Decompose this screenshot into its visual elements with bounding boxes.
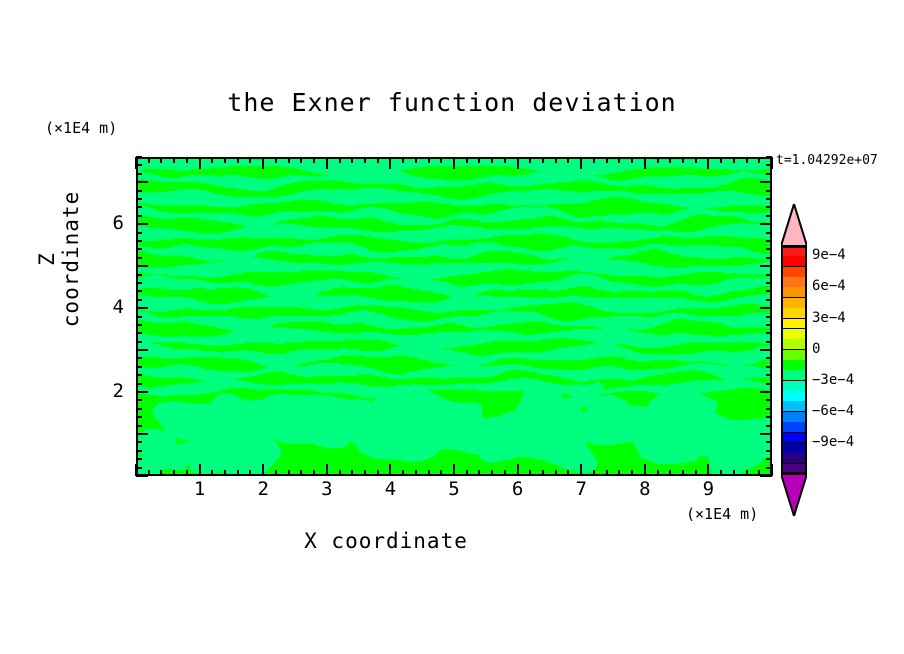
x-tick-minor: [364, 157, 366, 163]
y-tick-minor: [136, 190, 142, 192]
y-tick-minor: [136, 425, 142, 427]
contour-field: [136, 157, 772, 476]
x-tick-minor: [695, 157, 697, 163]
y-tick-minor: [766, 215, 772, 217]
y-tick-minor: [766, 156, 772, 158]
x-tick-major: [326, 464, 328, 476]
x-axis-unit-label: (×1E4 m): [686, 505, 758, 523]
y-tick-major: [136, 475, 148, 477]
x-tick-minor: [402, 470, 404, 476]
x-tick-minor: [224, 157, 226, 163]
y-tick-major: [760, 391, 772, 393]
y-axis-unit-label: (×1E4 m): [45, 119, 117, 137]
y-tick-minor: [136, 357, 142, 359]
y-tick-minor: [136, 366, 142, 368]
y-tick-minor: [766, 274, 772, 276]
x-tick-minor: [618, 157, 620, 163]
timestamp-label: t=1.04292e+07: [776, 153, 878, 168]
x-tick-minor: [606, 470, 608, 476]
y-tick-minor: [136, 299, 142, 301]
x-tick-minor: [428, 157, 430, 163]
colorbar-over-arrow: [781, 204, 807, 246]
x-tick-minor: [478, 470, 480, 476]
y-tick-minor: [136, 324, 142, 326]
y-tick-label: 4: [84, 296, 124, 318]
x-tick-label: 4: [370, 478, 410, 500]
x-tick-minor: [288, 470, 290, 476]
x-tick-minor: [529, 157, 531, 163]
x-tick-minor: [211, 157, 213, 163]
x-tick-minor: [695, 470, 697, 476]
y-tick-minor: [766, 206, 772, 208]
y-tick-minor: [136, 248, 142, 250]
x-tick-minor: [148, 157, 150, 163]
contour-plot-area: [136, 157, 772, 476]
x-tick-major: [580, 157, 582, 169]
x-tick-label: 2: [243, 478, 283, 500]
x-tick-minor: [237, 157, 239, 163]
x-tick-minor: [288, 157, 290, 163]
x-tick-minor: [657, 157, 659, 163]
y-tick-major: [760, 433, 772, 435]
y-tick-minor: [766, 164, 772, 166]
x-tick-minor: [733, 470, 735, 476]
x-tick-minor: [339, 470, 341, 476]
y-tick-minor: [766, 198, 772, 200]
y-tick-minor: [136, 341, 142, 343]
y-tick-major: [136, 349, 148, 351]
x-tick-label: 1: [180, 478, 220, 500]
y-tick-minor: [136, 164, 142, 166]
y-tick-minor: [766, 316, 772, 318]
x-tick-minor: [567, 157, 569, 163]
x-tick-minor: [682, 157, 684, 163]
x-tick-minor: [377, 470, 379, 476]
x-tick-major: [389, 157, 391, 169]
y-tick-minor: [136, 215, 142, 217]
y-tick-label: 6: [84, 212, 124, 234]
colorbar-frame: [781, 246, 807, 474]
x-tick-minor: [606, 157, 608, 163]
x-tick-minor: [339, 157, 341, 163]
x-tick-minor: [593, 157, 595, 163]
x-tick-minor: [173, 470, 175, 476]
x-tick-label: 8: [625, 478, 665, 500]
y-tick-minor: [136, 206, 142, 208]
colorbar-tick-label: 0: [812, 341, 820, 357]
x-tick-minor: [555, 157, 557, 163]
x-tick-minor: [466, 157, 468, 163]
chart-title: the Exner function deviation: [0, 88, 904, 117]
x-tick-major: [517, 464, 519, 476]
x-tick-minor: [504, 470, 506, 476]
x-tick-minor: [364, 470, 366, 476]
y-tick-major: [136, 307, 148, 309]
x-tick-label: 5: [434, 478, 474, 500]
x-tick-label: 7: [561, 478, 601, 500]
x-tick-minor: [733, 157, 735, 163]
y-tick-major: [760, 181, 772, 183]
x-tick-minor: [758, 157, 760, 163]
x-tick-minor: [415, 157, 417, 163]
y-tick-minor: [766, 366, 772, 368]
x-tick-minor: [402, 157, 404, 163]
x-tick-major: [517, 157, 519, 169]
x-tick-minor: [542, 470, 544, 476]
y-tick-minor: [766, 324, 772, 326]
x-tick-major: [453, 157, 455, 169]
y-tick-minor: [136, 416, 142, 418]
x-tick-major: [262, 157, 264, 169]
colorbar-tick-label: −3e−4: [812, 372, 854, 388]
x-tick-minor: [237, 470, 239, 476]
y-tick-minor: [136, 316, 142, 318]
x-tick-minor: [478, 157, 480, 163]
x-tick-minor: [720, 470, 722, 476]
x-tick-minor: [173, 157, 175, 163]
x-tick-minor: [491, 157, 493, 163]
x-tick-minor: [186, 157, 188, 163]
colorbar-tick-label: −9e−4: [812, 434, 854, 450]
x-tick-major: [199, 157, 201, 169]
x-tick-minor: [631, 470, 633, 476]
x-axis-title: X coordinate: [0, 529, 772, 553]
y-tick-minor: [136, 232, 142, 234]
x-tick-minor: [440, 470, 442, 476]
x-tick-minor: [275, 157, 277, 163]
x-tick-major: [580, 464, 582, 476]
y-tick-minor: [136, 383, 142, 385]
y-tick-major: [136, 181, 148, 183]
y-tick-minor: [766, 458, 772, 460]
y-tick-minor: [766, 416, 772, 418]
x-tick-major: [644, 157, 646, 169]
y-tick-minor: [766, 173, 772, 175]
y-tick-minor: [136, 399, 142, 401]
y-tick-major: [760, 475, 772, 477]
x-tick-major: [326, 157, 328, 169]
y-tick-minor: [766, 341, 772, 343]
x-tick-minor: [148, 470, 150, 476]
x-tick-label: 6: [498, 478, 538, 500]
y-tick-minor: [766, 290, 772, 292]
x-tick-minor: [466, 470, 468, 476]
x-tick-minor: [313, 470, 315, 476]
x-tick-minor: [224, 470, 226, 476]
y-tick-minor: [136, 156, 142, 158]
x-tick-minor: [160, 157, 162, 163]
x-tick-minor: [631, 157, 633, 163]
y-tick-minor: [136, 408, 142, 410]
y-tick-major: [136, 433, 148, 435]
x-tick-minor: [529, 470, 531, 476]
x-tick-minor: [669, 157, 671, 163]
x-tick-major: [389, 464, 391, 476]
y-tick-minor: [766, 408, 772, 410]
y-tick-minor: [766, 399, 772, 401]
y-tick-major: [136, 265, 148, 267]
x-tick-minor: [160, 470, 162, 476]
x-tick-minor: [211, 470, 213, 476]
y-tick-minor: [766, 374, 772, 376]
y-tick-label: 2: [84, 380, 124, 402]
y-tick-minor: [136, 240, 142, 242]
x-tick-minor: [300, 470, 302, 476]
x-tick-minor: [669, 470, 671, 476]
x-tick-major: [453, 464, 455, 476]
y-tick-major: [760, 223, 772, 225]
x-tick-minor: [440, 157, 442, 163]
y-tick-minor: [766, 450, 772, 452]
x-tick-minor: [542, 157, 544, 163]
x-tick-minor: [275, 470, 277, 476]
x-tick-major: [199, 464, 201, 476]
y-tick-minor: [766, 357, 772, 359]
y-tick-minor: [766, 383, 772, 385]
x-tick-label: 3: [307, 478, 347, 500]
x-tick-minor: [657, 470, 659, 476]
x-tick-minor: [746, 470, 748, 476]
y-tick-major: [760, 349, 772, 351]
y-tick-major: [760, 265, 772, 267]
y-tick-minor: [766, 425, 772, 427]
y-tick-minor: [766, 467, 772, 469]
x-tick-minor: [555, 470, 557, 476]
y-tick-minor: [136, 458, 142, 460]
x-tick-minor: [720, 157, 722, 163]
y-tick-minor: [766, 190, 772, 192]
y-tick-minor: [136, 450, 142, 452]
colorbar-tick-label: 3e−4: [812, 310, 846, 326]
x-tick-label: 9: [688, 478, 728, 500]
x-tick-major: [771, 157, 773, 169]
x-tick-minor: [567, 470, 569, 476]
y-tick-minor: [136, 441, 142, 443]
x-tick-major: [262, 464, 264, 476]
y-tick-minor: [136, 282, 142, 284]
y-tick-minor: [136, 257, 142, 259]
colorbar-under-arrow: [781, 474, 807, 516]
x-tick-major: [707, 464, 709, 476]
x-tick-minor: [300, 157, 302, 163]
x-tick-minor: [504, 157, 506, 163]
x-tick-major: [644, 464, 646, 476]
y-tick-major: [136, 223, 148, 225]
y-tick-major: [760, 307, 772, 309]
y-tick-minor: [136, 274, 142, 276]
colorbar-tick-label: 9e−4: [812, 247, 846, 263]
y-tick-minor: [766, 332, 772, 334]
y-tick-minor: [136, 467, 142, 469]
y-axis-title: Z coordinate: [35, 179, 83, 339]
y-tick-minor: [766, 232, 772, 234]
y-tick-minor: [136, 173, 142, 175]
x-tick-minor: [351, 470, 353, 476]
x-tick-minor: [415, 470, 417, 476]
x-tick-minor: [186, 470, 188, 476]
y-tick-minor: [136, 374, 142, 376]
x-tick-minor: [249, 470, 251, 476]
x-tick-minor: [351, 157, 353, 163]
y-tick-minor: [766, 299, 772, 301]
y-tick-minor: [766, 282, 772, 284]
x-tick-major: [707, 157, 709, 169]
y-tick-minor: [136, 332, 142, 334]
y-tick-minor: [766, 441, 772, 443]
y-tick-minor: [766, 257, 772, 259]
x-tick-minor: [313, 157, 315, 163]
y-tick-minor: [136, 290, 142, 292]
y-tick-minor: [766, 248, 772, 250]
x-tick-major: [135, 157, 137, 169]
x-tick-minor: [377, 157, 379, 163]
x-tick-minor: [618, 470, 620, 476]
x-tick-minor: [249, 157, 251, 163]
x-tick-minor: [428, 470, 430, 476]
x-tick-minor: [746, 157, 748, 163]
x-tick-minor: [682, 470, 684, 476]
colorbar-tick-label: 6e−4: [812, 278, 846, 294]
y-tick-minor: [766, 240, 772, 242]
y-tick-minor: [136, 198, 142, 200]
x-tick-minor: [491, 470, 493, 476]
x-tick-minor: [593, 470, 595, 476]
y-tick-major: [136, 391, 148, 393]
colorbar-tick-label: −6e−4: [812, 403, 854, 419]
